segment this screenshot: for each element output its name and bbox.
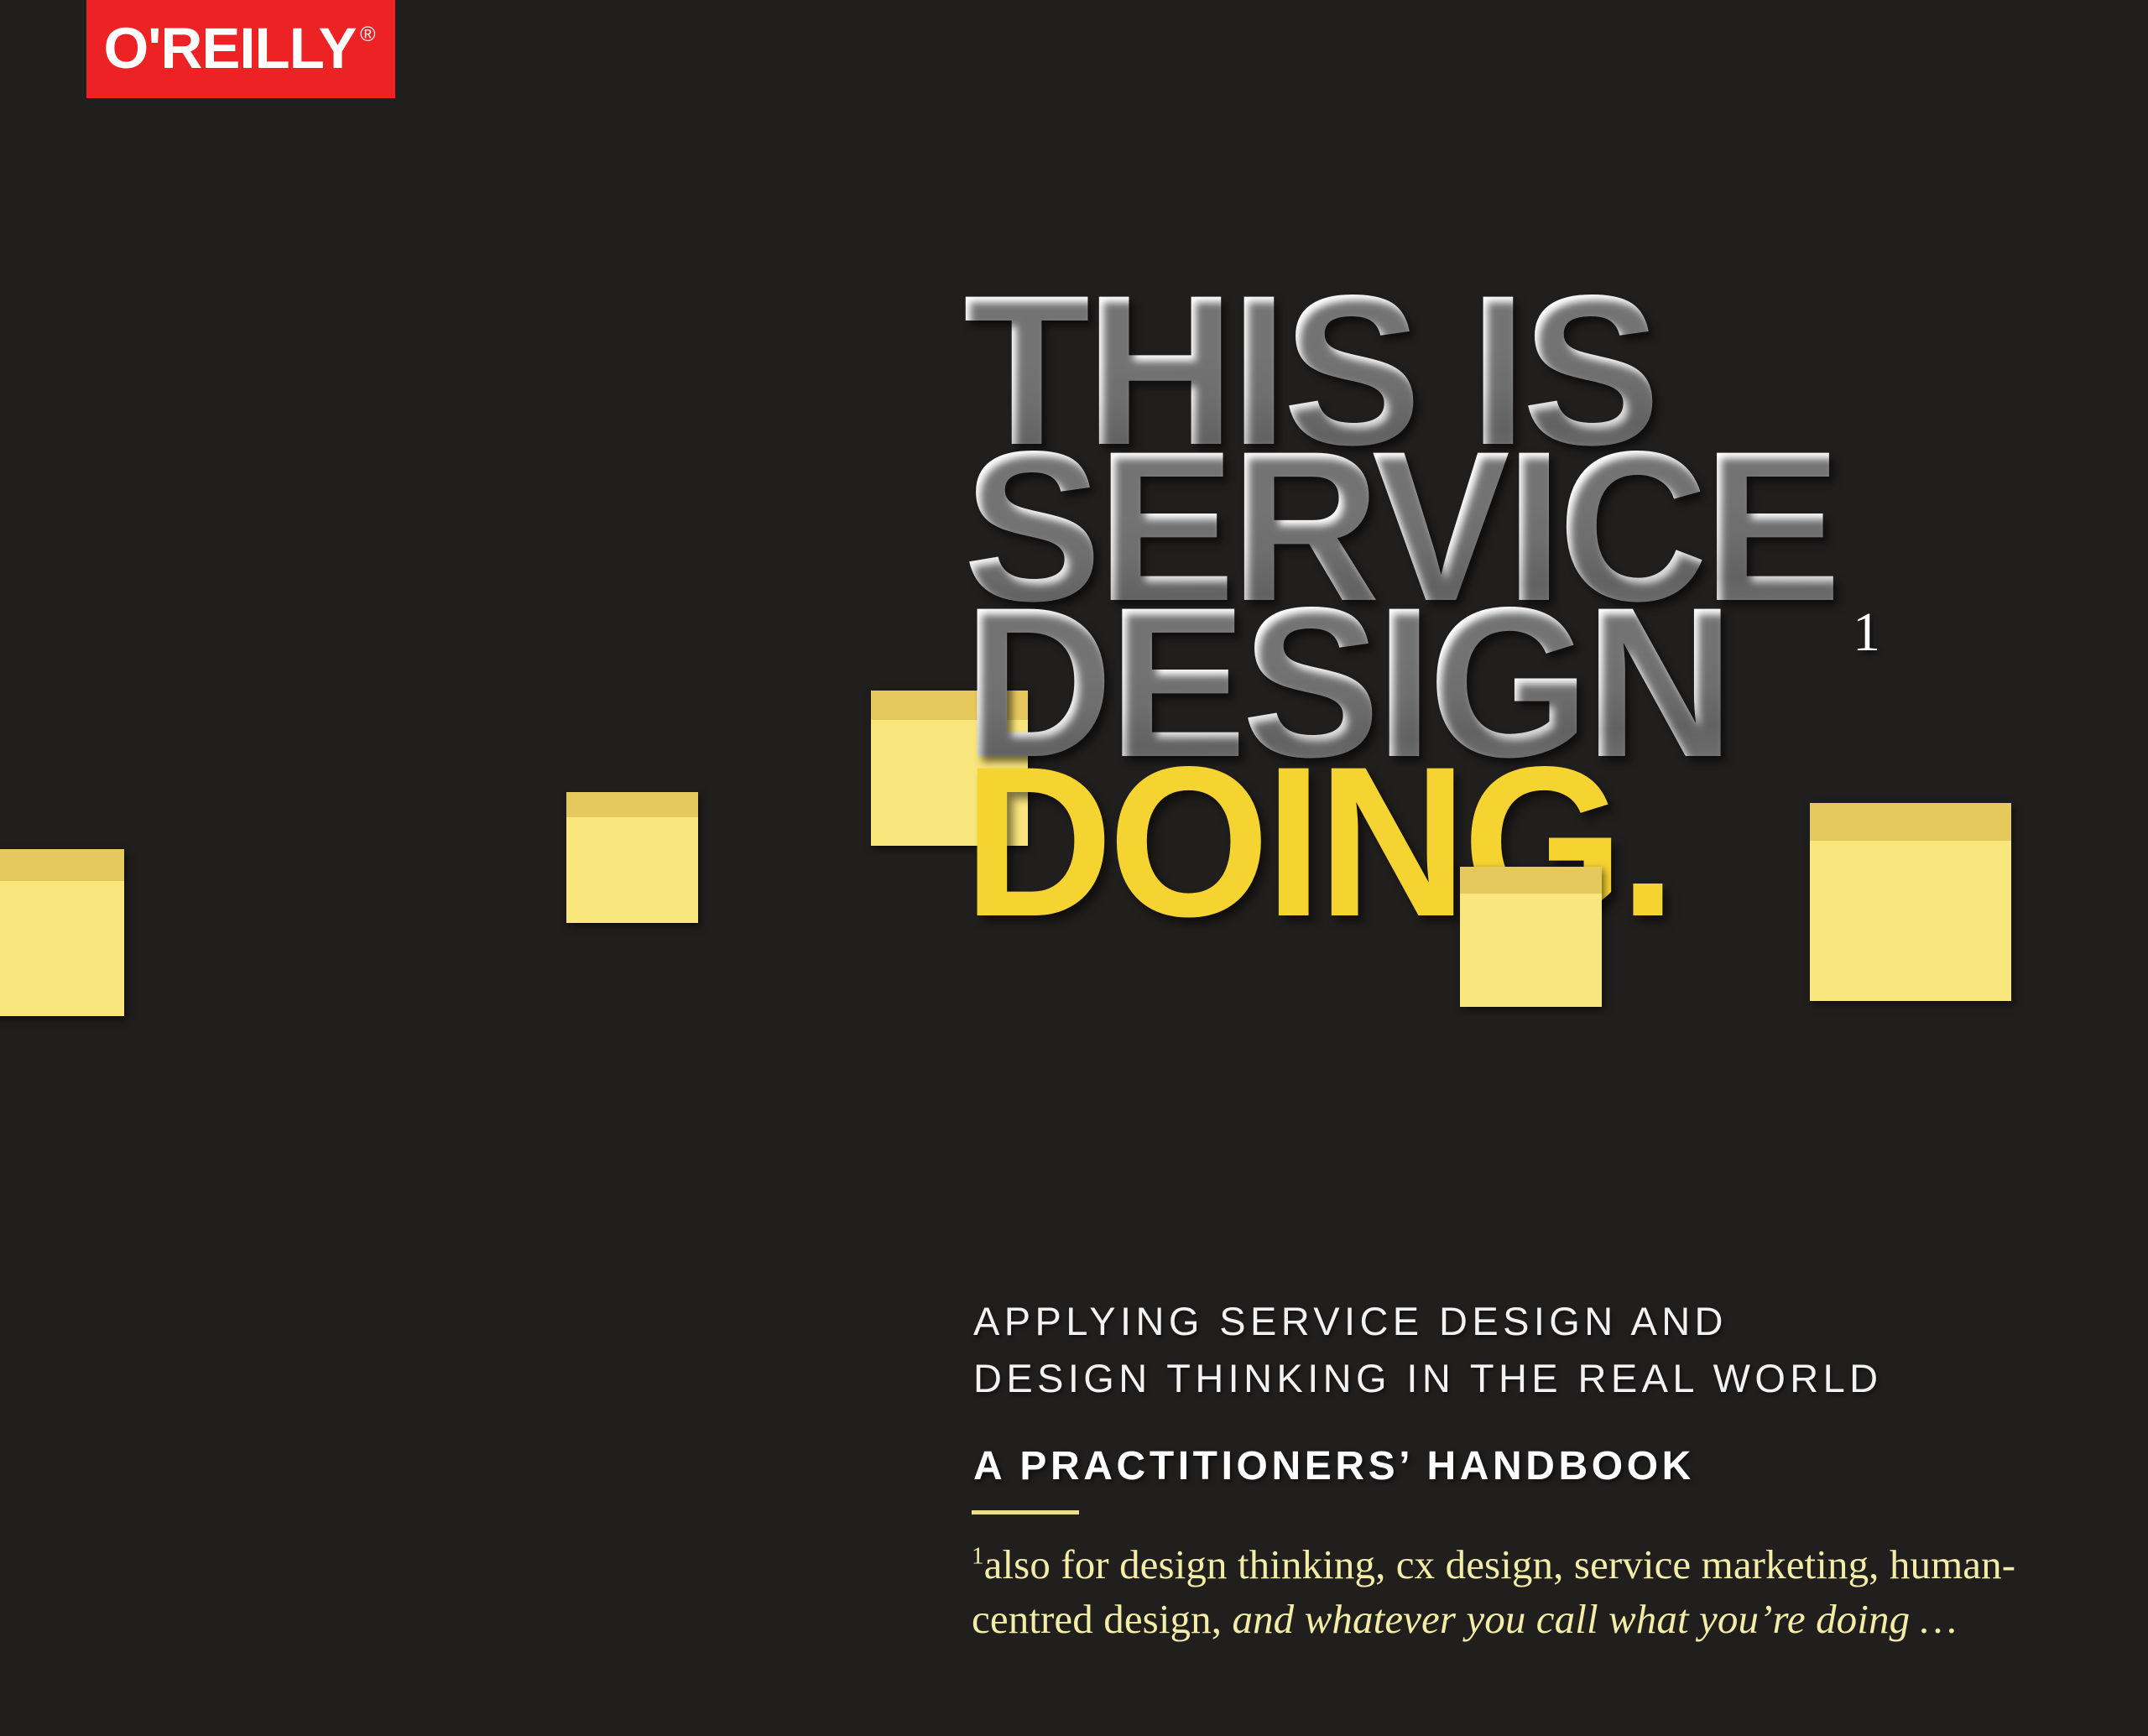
oreilly-logo: O'REILLY ® [86, 0, 395, 98]
oreilly-wordmark: O'REILLY ® [103, 14, 378, 77]
subtitle-handbook-line: A PRACTITIONERS’ HANDBOOK [973, 1443, 2081, 1489]
sticky-note-mid-left [566, 792, 698, 923]
footnote-italic: and whatever you call what you’re doing … [1232, 1596, 1957, 1642]
sticky-note-band [1810, 803, 2011, 841]
sticky-note-right [1810, 803, 2011, 1001]
footnote-text: 1also for design thinking, cx design, se… [972, 1538, 2096, 1646]
sticky-note-over-doing [1460, 867, 1602, 1007]
footnote-marker: 1 [972, 1543, 984, 1570]
title-footnote-superscript: 1 [1853, 601, 1880, 665]
registered-trademark-icon: ® [360, 24, 374, 45]
oreilly-wordmark-text: O'REILLY [103, 16, 356, 81]
book-cover: O'REILLY ® THIS IS SERVICE DESIGN 1 DOIN… [0, 0, 2148, 1736]
footnote-rule [972, 1510, 1079, 1514]
subtitle-line-2: DESIGN THINKING IN THE REAL WORLD [973, 1350, 2081, 1407]
sticky-note-band [566, 792, 698, 817]
sticky-note-band [1460, 867, 1602, 894]
footnote-block: 1also for design thinking, cx design, se… [972, 1510, 2096, 1646]
subtitle-block: APPLYING SERVICE DESIGN AND DESIGN THINK… [973, 1293, 2081, 1489]
subtitle-line-1: APPLYING SERVICE DESIGN AND [973, 1293, 2081, 1350]
sticky-note-band [0, 849, 124, 881]
sticky-note-left [0, 849, 124, 1016]
